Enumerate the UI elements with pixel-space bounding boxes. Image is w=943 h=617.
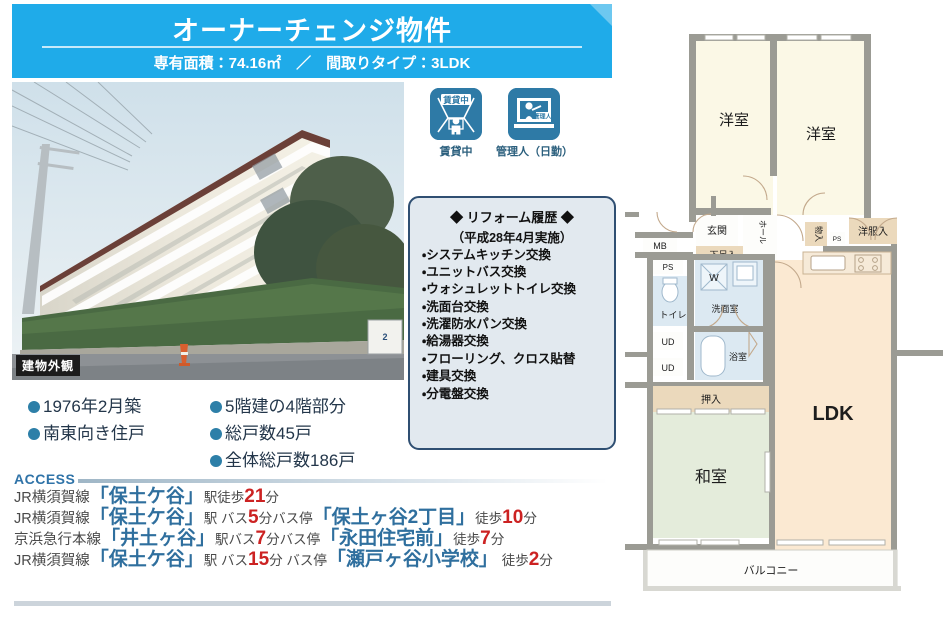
room-label-toilet: トイレ [659, 310, 686, 320]
storage-label-oshiire: 押入 [701, 393, 721, 406]
access-line: JR横須賀線「保土ケ谷」駅 バス15分 バス停「瀬戸ヶ谷小学校」 徒歩2分 [14, 550, 614, 570]
access-line-name: JR横須賀線 [14, 490, 90, 506]
access-divider [78, 479, 608, 483]
floorplan-column: 【間取図】 .wall { fill:#9b9b94; } .thin { fi… [625, 0, 943, 617]
bullet-dot-icon [28, 401, 40, 413]
reform-subtitle: （平成28年4月実施） [410, 227, 614, 246]
feature-label: 南東向き住戸 [43, 424, 145, 443]
property-features: 1976年2月築 南東向き住戸 5階建の4階部分 総戸数45戸 全体総戸数186… [14, 392, 404, 470]
room-label-washroom: 洗面室 [711, 303, 738, 314]
storage-label-mononoire: 物入 [814, 226, 824, 242]
feature-label: 5階建の4階部分 [225, 397, 346, 416]
access-unit2: 分 [539, 553, 553, 568]
feature-item: 総戸数45戸 [210, 419, 312, 444]
marker-label-w: W [709, 273, 719, 284]
access-line-name: 京浜急行本線 [14, 532, 101, 548]
access-number: 21 [244, 486, 265, 507]
access-number: 5 [248, 507, 259, 528]
access-mid: 駅徒歩 [204, 490, 245, 505]
access-number2: 10 [502, 507, 523, 528]
marker-label-mb: MB [653, 241, 667, 251]
reform-item: ・フローリング、クロス貼替 [422, 352, 614, 368]
access-mid2: 徒歩 [453, 532, 480, 547]
access-line: 京浜急行本線「井土ヶ谷」駅バス7分バス停「永田住宅前」徒歩7分 [14, 529, 614, 549]
rental-status-icon: 賃貸中 [430, 88, 482, 140]
access-list: JR横須賀線「保土ケ谷」駅徒歩21分 JR横須賀線「保土ケ谷」駅 バス5分バス停… [14, 487, 614, 572]
access-mid2: 徒歩 [475, 511, 502, 526]
storage-label-yofukuire: 洋服入 [858, 225, 888, 238]
access-unit: 分 バス停 [269, 553, 327, 568]
bottom-divider [14, 601, 611, 606]
access-station: 「保土ケ谷」 [90, 507, 204, 528]
access-mid: 駅バス [215, 532, 256, 547]
access-unit2: 分 [491, 532, 505, 547]
reform-item: ・洗面台交換 [422, 300, 614, 316]
access-bus-stop: 「瀬戸ヶ谷小学校」 [327, 549, 498, 570]
svg-text:2: 2 [382, 332, 387, 342]
floorplan-svg: .wall { fill:#9b9b94; } .thin { fill:non… [625, 0, 943, 617]
feature-label: 総戸数45戸 [225, 424, 312, 443]
access-number: 15 [248, 549, 269, 570]
bullet-dot-icon [28, 428, 40, 440]
bullet-dot-icon [210, 401, 222, 413]
access-section-label: ACCESS [14, 471, 75, 487]
room-label-yoshitsu-1: 洋室 [719, 112, 749, 129]
svg-text:賃貸中: 賃貸中 [442, 95, 469, 105]
feature-item: 南東向き住戸 [28, 419, 145, 444]
feature-item: 5階建の4階部分 [210, 392, 346, 417]
badge-caretaker-label: 管理人（日勤） [496, 143, 562, 159]
room-label-hall: ホール [758, 220, 767, 244]
access-station: 「保土ケ谷」 [90, 549, 204, 570]
reform-item: ・ユニットバス交換 [422, 265, 614, 281]
access-unit: 分 [265, 490, 279, 505]
building-exterior-photo: 2 建物外観 [12, 82, 404, 380]
reform-item: ・洗濯防水パン交換 [422, 317, 614, 333]
access-mid: 駅 バス [204, 553, 248, 568]
floorplan-drawing: .wall { fill:#9b9b94; } .thin { fill:non… [625, 0, 943, 617]
feature-label: 1976年2月築 [43, 397, 141, 416]
access-bus-stop: 「保土ヶ谷2丁目」 [313, 507, 476, 528]
svg-text:管理人: 管理人 [532, 113, 552, 121]
reform-title: ◆ リフォーム履歴 ◆ [410, 207, 614, 226]
bullet-dot-icon [210, 428, 222, 440]
room-label-ldk: LDK [812, 403, 854, 425]
access-station: 「保土ケ谷」 [90, 486, 204, 507]
room-label-balcony: バルコニー [744, 564, 799, 577]
property-badges: 賃貸中 賃貸中 管理人 [418, 88, 608, 174]
access-bus-stop: 「永田住宅前」 [320, 528, 453, 549]
room-label-washitsu: 和室 [695, 468, 727, 486]
badge-rental-label: 賃貸中 [428, 143, 484, 159]
reform-item: ・分電盤交換 [422, 387, 614, 403]
access-line-name: JR横須賀線 [14, 511, 90, 527]
bullet-dot-icon [210, 455, 222, 467]
photo-illustration: 2 [12, 82, 404, 380]
marker-label-ps-2: PS [833, 236, 842, 243]
badge-rental-status: 賃貸中 賃貸中 [428, 88, 484, 159]
access-line: JR横須賀線「保土ケ谷」駅徒歩21分 [14, 487, 614, 507]
reform-item: ・建具交換 [422, 369, 614, 385]
caretaker-glyph: 管理人 [508, 88, 560, 140]
badge-caretaker: 管理人 管理人（日勤） [506, 88, 562, 159]
access-unit2: 分 [523, 511, 537, 526]
access-unit: 分バス停 [266, 532, 320, 547]
access-mid2: 徒歩 [498, 553, 529, 568]
feature-item: 全体総戸数186戸 [210, 446, 355, 471]
access-line-name: JR横須賀線 [14, 553, 90, 569]
access-number: 7 [256, 528, 267, 549]
caretaker-icon: 管理人 [508, 88, 560, 140]
access-number2: 2 [529, 549, 540, 570]
rental-status-glyph: 賃貸中 [430, 88, 482, 140]
access-mid: 駅 バス [204, 511, 248, 526]
reform-item: ・システムキッチン交換 [422, 248, 614, 264]
feature-label: 全体総戸数186戸 [225, 451, 355, 470]
header-banner: オーナーチェンジ物件 専有面積：74.16㎡ ／ 間取りタイプ：3LDK [12, 4, 612, 78]
room-label-yoshitsu-2: 洋室 [806, 126, 836, 143]
access-line: JR横須賀線「保土ケ谷」駅 バス5分バス停「保土ヶ谷2丁目」徒歩10分 [14, 508, 614, 528]
page-title: オーナーチェンジ物件 [12, 9, 612, 48]
marker-label-ps-1: PS [663, 263, 674, 272]
marker-label-ud-2: UD [662, 363, 675, 373]
access-number2: 7 [480, 528, 491, 549]
marker-label-ud-1: UD [662, 337, 675, 347]
reform-item: ・給湯器交換 [422, 334, 614, 350]
photo-caption: 建物外観 [16, 355, 80, 376]
feature-item: 1976年2月築 [28, 392, 141, 417]
reform-item: ・ウォシュレットトイレ交換 [422, 282, 614, 298]
reform-history-box: ◆ リフォーム履歴 ◆ （平成28年4月実施） ・システムキッチン交換 ・ユニッ… [408, 196, 616, 450]
access-station: 「井土ヶ谷」 [101, 528, 215, 549]
room-label-genkan: 玄関 [707, 224, 727, 237]
access-unit: 分バス停 [259, 511, 313, 526]
banner-divider [42, 46, 582, 48]
property-spec-subtitle: 専有面積：74.16㎡ ／ 間取りタイプ：3LDK [12, 52, 612, 73]
room-label-bath: 浴室 [729, 351, 747, 362]
listing-left-column: オーナーチェンジ物件 専有面積：74.16㎡ ／ 間取りタイプ：3LDK [0, 0, 625, 617]
